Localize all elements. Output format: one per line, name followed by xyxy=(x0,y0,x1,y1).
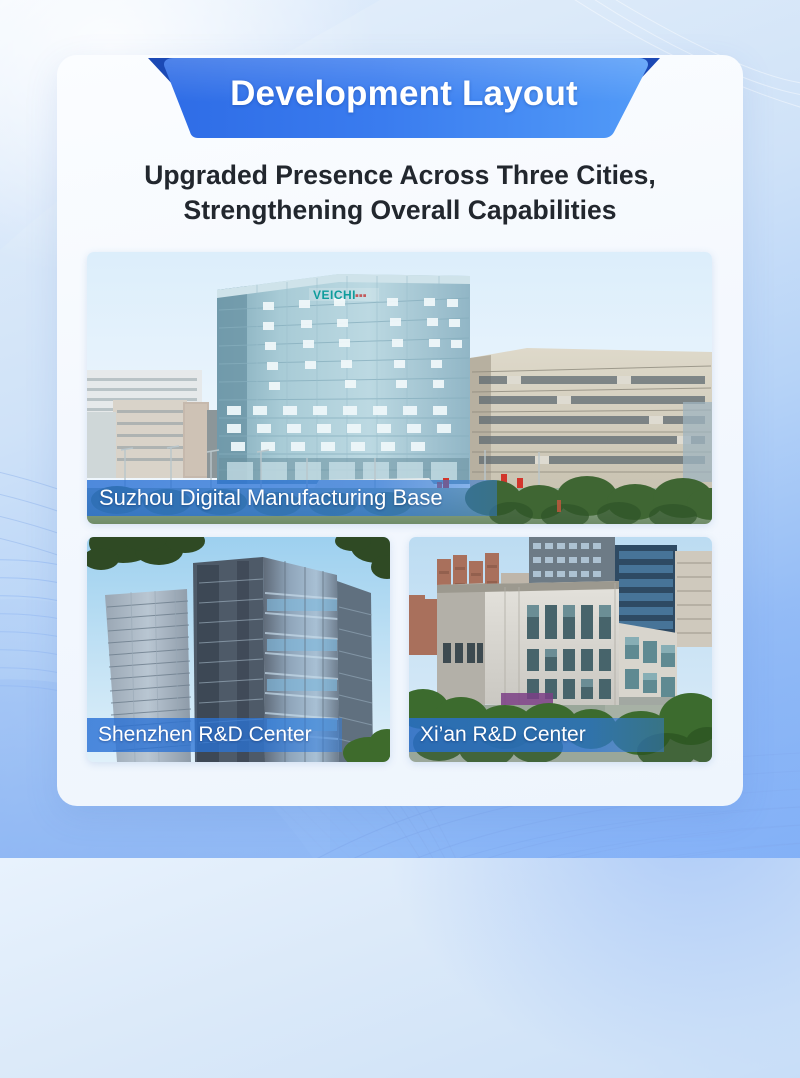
page-subtitle: Upgraded Presence Across Three Cities, S… xyxy=(57,158,743,228)
banner-title: Development Layout xyxy=(144,52,664,142)
photo-shenzhen-rd-center[interactable]: Shenzhen R&D Center xyxy=(87,537,390,762)
building-sign: VEICHI ▪▪▪ xyxy=(309,288,379,302)
subtitle-line-2: Strengthening Overall Capabilities xyxy=(97,193,703,228)
banner-ribbon: Development Layout xyxy=(144,52,664,142)
svg-text:VEICHI: VEICHI xyxy=(313,288,356,302)
photo-caption-suzhou: Suzhou Digital Manufacturing Base xyxy=(87,480,497,516)
svg-text:▪▪▪: ▪▪▪ xyxy=(355,290,367,302)
photo-suzhou-digital-manufacturing-base[interactable]: VEICHI ▪▪▪ xyxy=(87,252,712,524)
photo-caption-shenzhen: Shenzhen R&D Center xyxy=(87,718,342,752)
subtitle-line-1: Upgraded Presence Across Three Cities, xyxy=(97,158,703,193)
photo-caption-xian: Xi’an R&D Center xyxy=(409,718,664,752)
photo-xian-rd-center[interactable]: Xi’an R&D Center xyxy=(409,537,712,762)
